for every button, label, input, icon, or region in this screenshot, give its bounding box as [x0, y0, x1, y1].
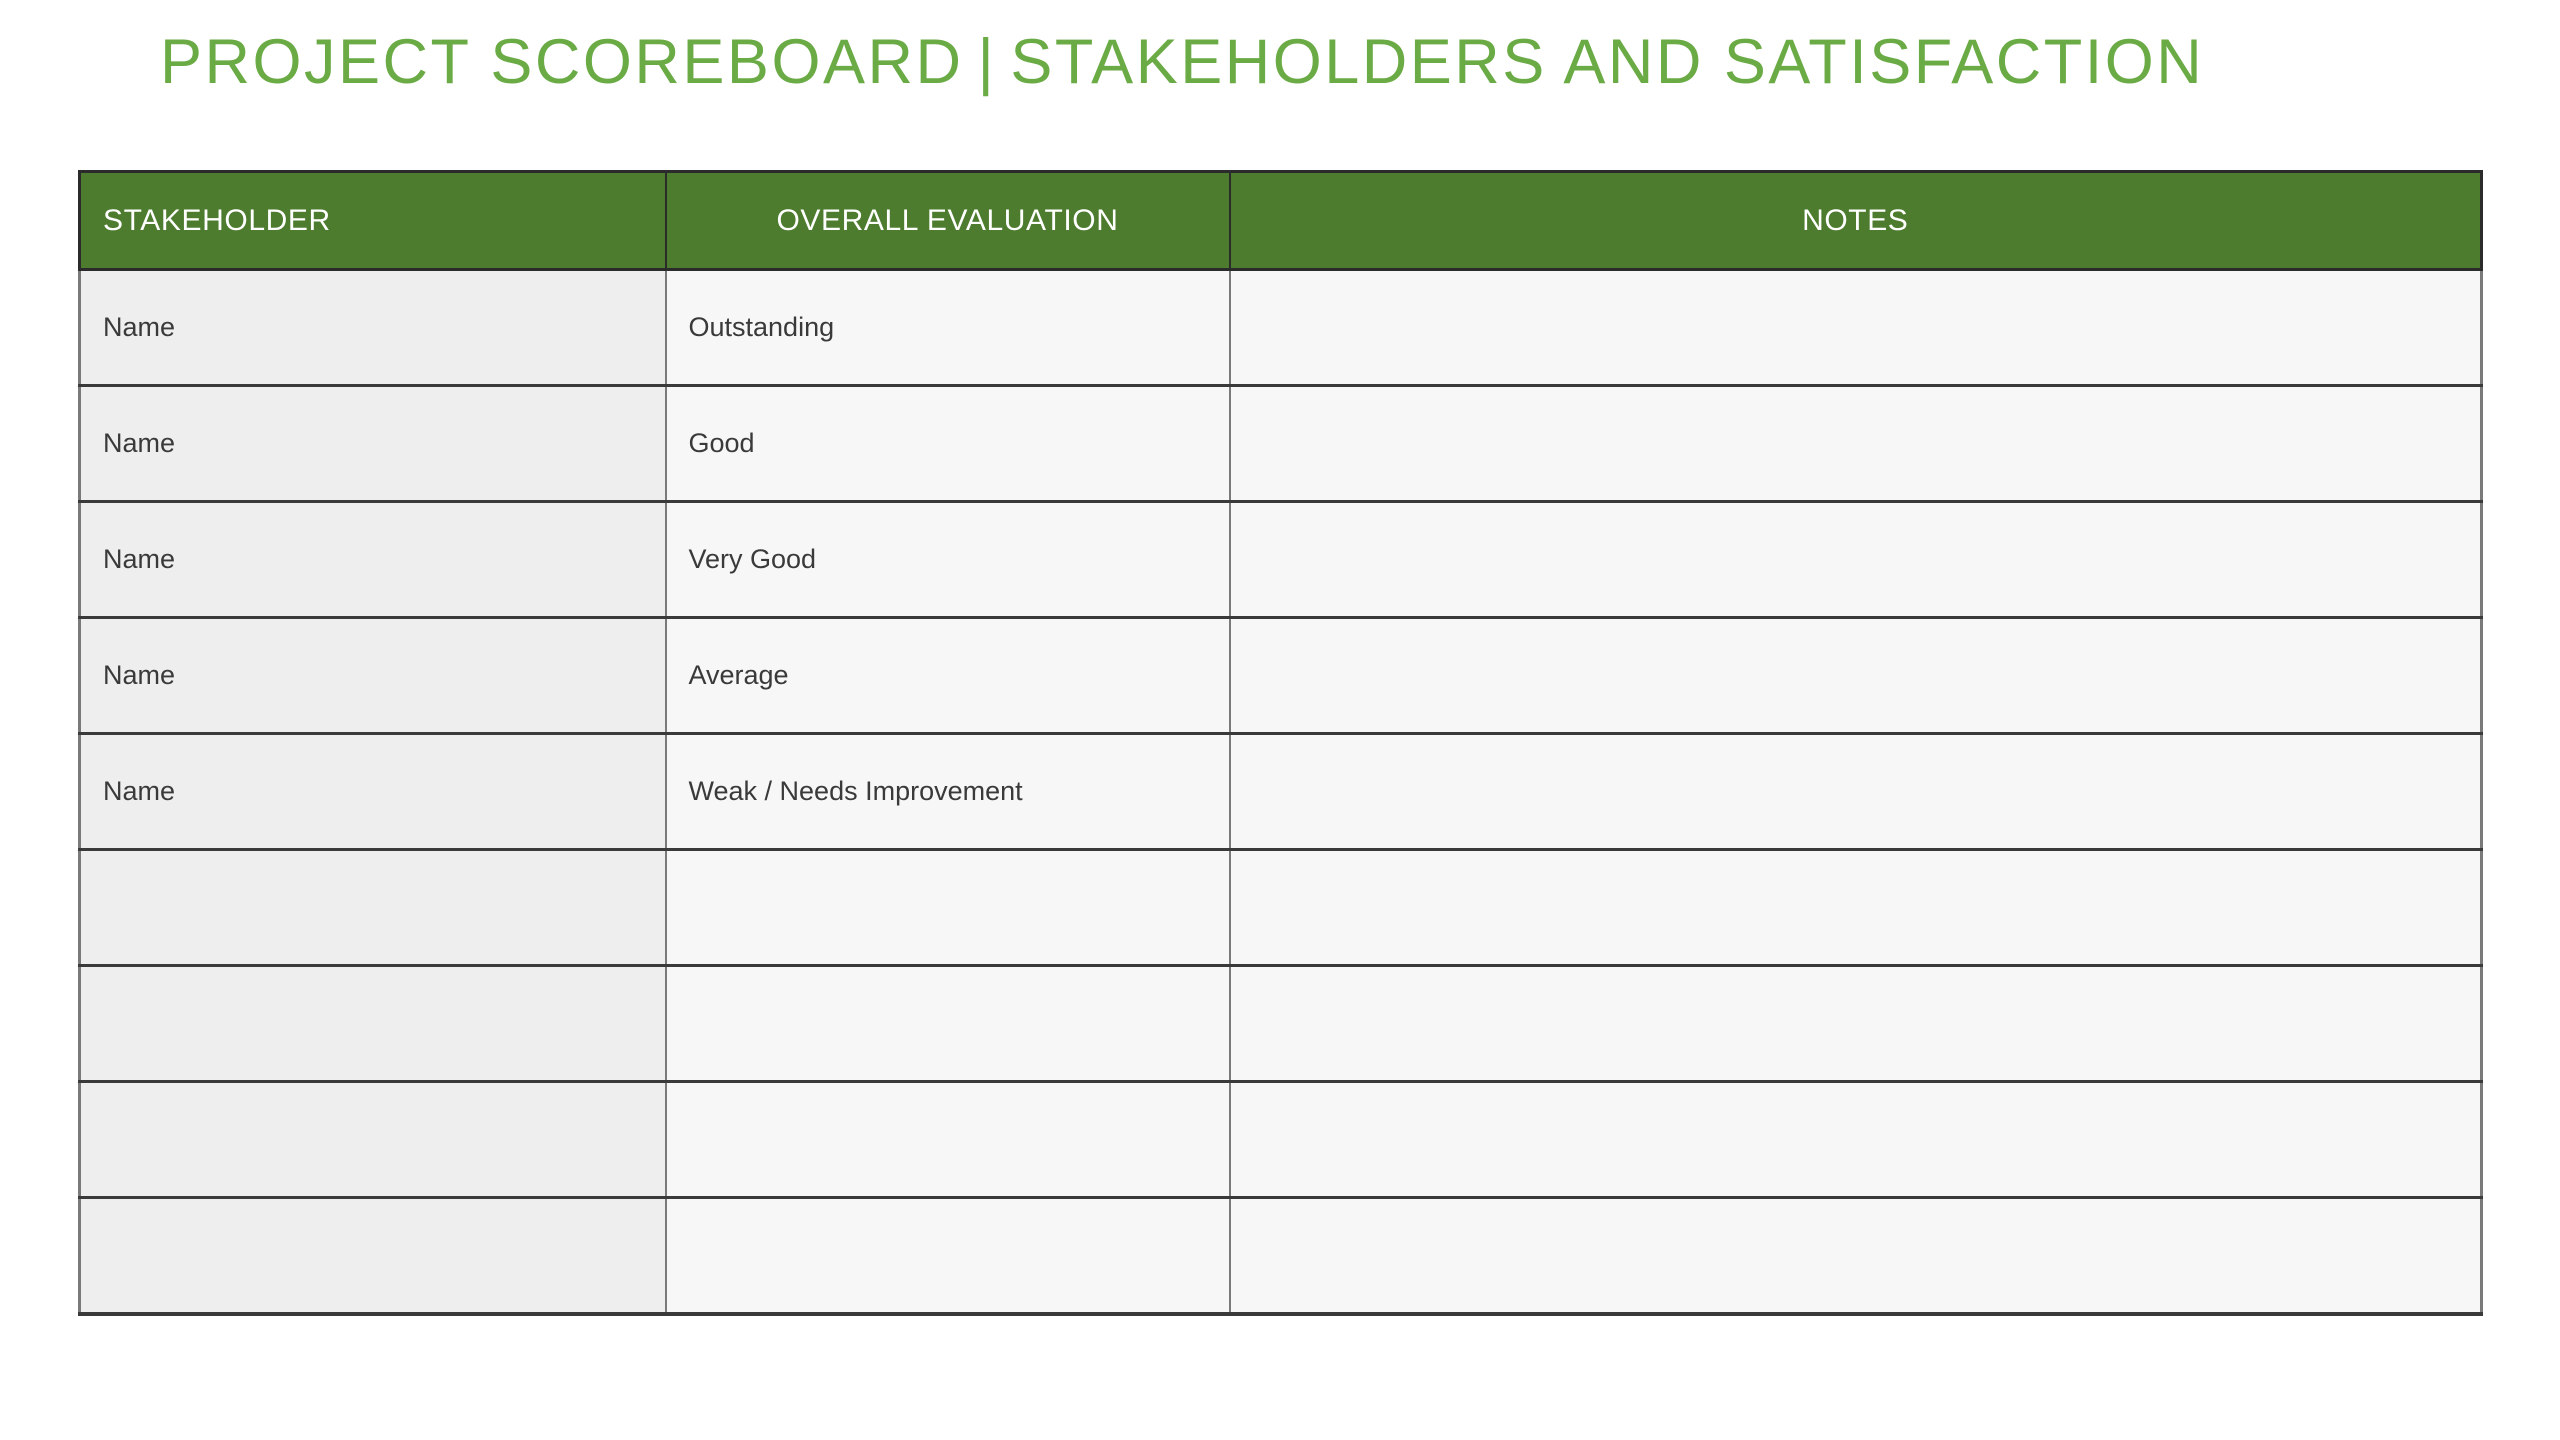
cell-stakeholder[interactable]: Name — [80, 618, 666, 734]
scoreboard-page: PROJECT SCOREBOARD|STAKEHOLDERS AND SATI… — [0, 0, 2560, 1440]
table-row — [80, 1198, 2482, 1314]
cell-evaluation[interactable]: Good — [666, 386, 1230, 502]
cell-notes[interactable] — [1230, 1198, 2482, 1314]
cell-stakeholder[interactable]: Name — [80, 386, 666, 502]
table-body: Name Outstanding Name Good Name Very Goo… — [80, 270, 2482, 1314]
cell-stakeholder[interactable]: Name — [80, 734, 666, 850]
page-title: PROJECT SCOREBOARD|STAKEHOLDERS AND SATI… — [160, 28, 2204, 97]
cell-stakeholder[interactable] — [80, 1198, 666, 1314]
cell-evaluation[interactable]: Outstanding — [666, 270, 1230, 386]
table-row — [80, 1082, 2482, 1198]
scoreboard-table: STAKEHOLDER OVERALL EVALUATION NOTES Nam… — [78, 170, 2483, 1316]
cell-stakeholder[interactable]: Name — [80, 270, 666, 386]
cell-notes[interactable] — [1230, 850, 2482, 966]
table-header: STAKEHOLDER OVERALL EVALUATION NOTES — [80, 172, 2482, 270]
table-header-row: STAKEHOLDER OVERALL EVALUATION NOTES — [80, 172, 2482, 270]
page-title-part1: PROJECT SCOREBOARD — [160, 27, 963, 97]
cell-evaluation[interactable]: Average — [666, 618, 1230, 734]
table-row — [80, 850, 2482, 966]
table-row — [80, 966, 2482, 1082]
cell-evaluation[interactable] — [666, 966, 1230, 1082]
scoreboard-table-wrap: STAKEHOLDER OVERALL EVALUATION NOTES Nam… — [78, 170, 2480, 1316]
cell-notes[interactable] — [1230, 1082, 2482, 1198]
cell-notes[interactable] — [1230, 386, 2482, 502]
page-title-part2: STAKEHOLDERS AND SATISFACTION — [1010, 27, 2204, 97]
table-row: Name Outstanding — [80, 270, 2482, 386]
table-row: Name Good — [80, 386, 2482, 502]
cell-stakeholder[interactable]: Name — [80, 502, 666, 618]
cell-evaluation[interactable] — [666, 850, 1230, 966]
column-header-stakeholder[interactable]: STAKEHOLDER — [80, 172, 666, 270]
cell-evaluation[interactable]: Weak / Needs Improvement — [666, 734, 1230, 850]
cell-evaluation[interactable] — [666, 1082, 1230, 1198]
page-title-separator: | — [963, 27, 1010, 97]
cell-notes[interactable] — [1230, 502, 2482, 618]
cell-evaluation[interactable]: Very Good — [666, 502, 1230, 618]
column-header-notes[interactable]: NOTES — [1230, 172, 2482, 270]
cell-stakeholder[interactable] — [80, 850, 666, 966]
cell-stakeholder[interactable] — [80, 1082, 666, 1198]
cell-stakeholder[interactable] — [80, 966, 666, 1082]
cell-notes[interactable] — [1230, 270, 2482, 386]
cell-notes[interactable] — [1230, 734, 2482, 850]
table-row: Name Very Good — [80, 502, 2482, 618]
cell-notes[interactable] — [1230, 618, 2482, 734]
cell-evaluation[interactable] — [666, 1198, 1230, 1314]
table-row: Name Average — [80, 618, 2482, 734]
column-header-overall-evaluation[interactable]: OVERALL EVALUATION — [666, 172, 1230, 270]
table-row: Name Weak / Needs Improvement — [80, 734, 2482, 850]
cell-notes[interactable] — [1230, 966, 2482, 1082]
